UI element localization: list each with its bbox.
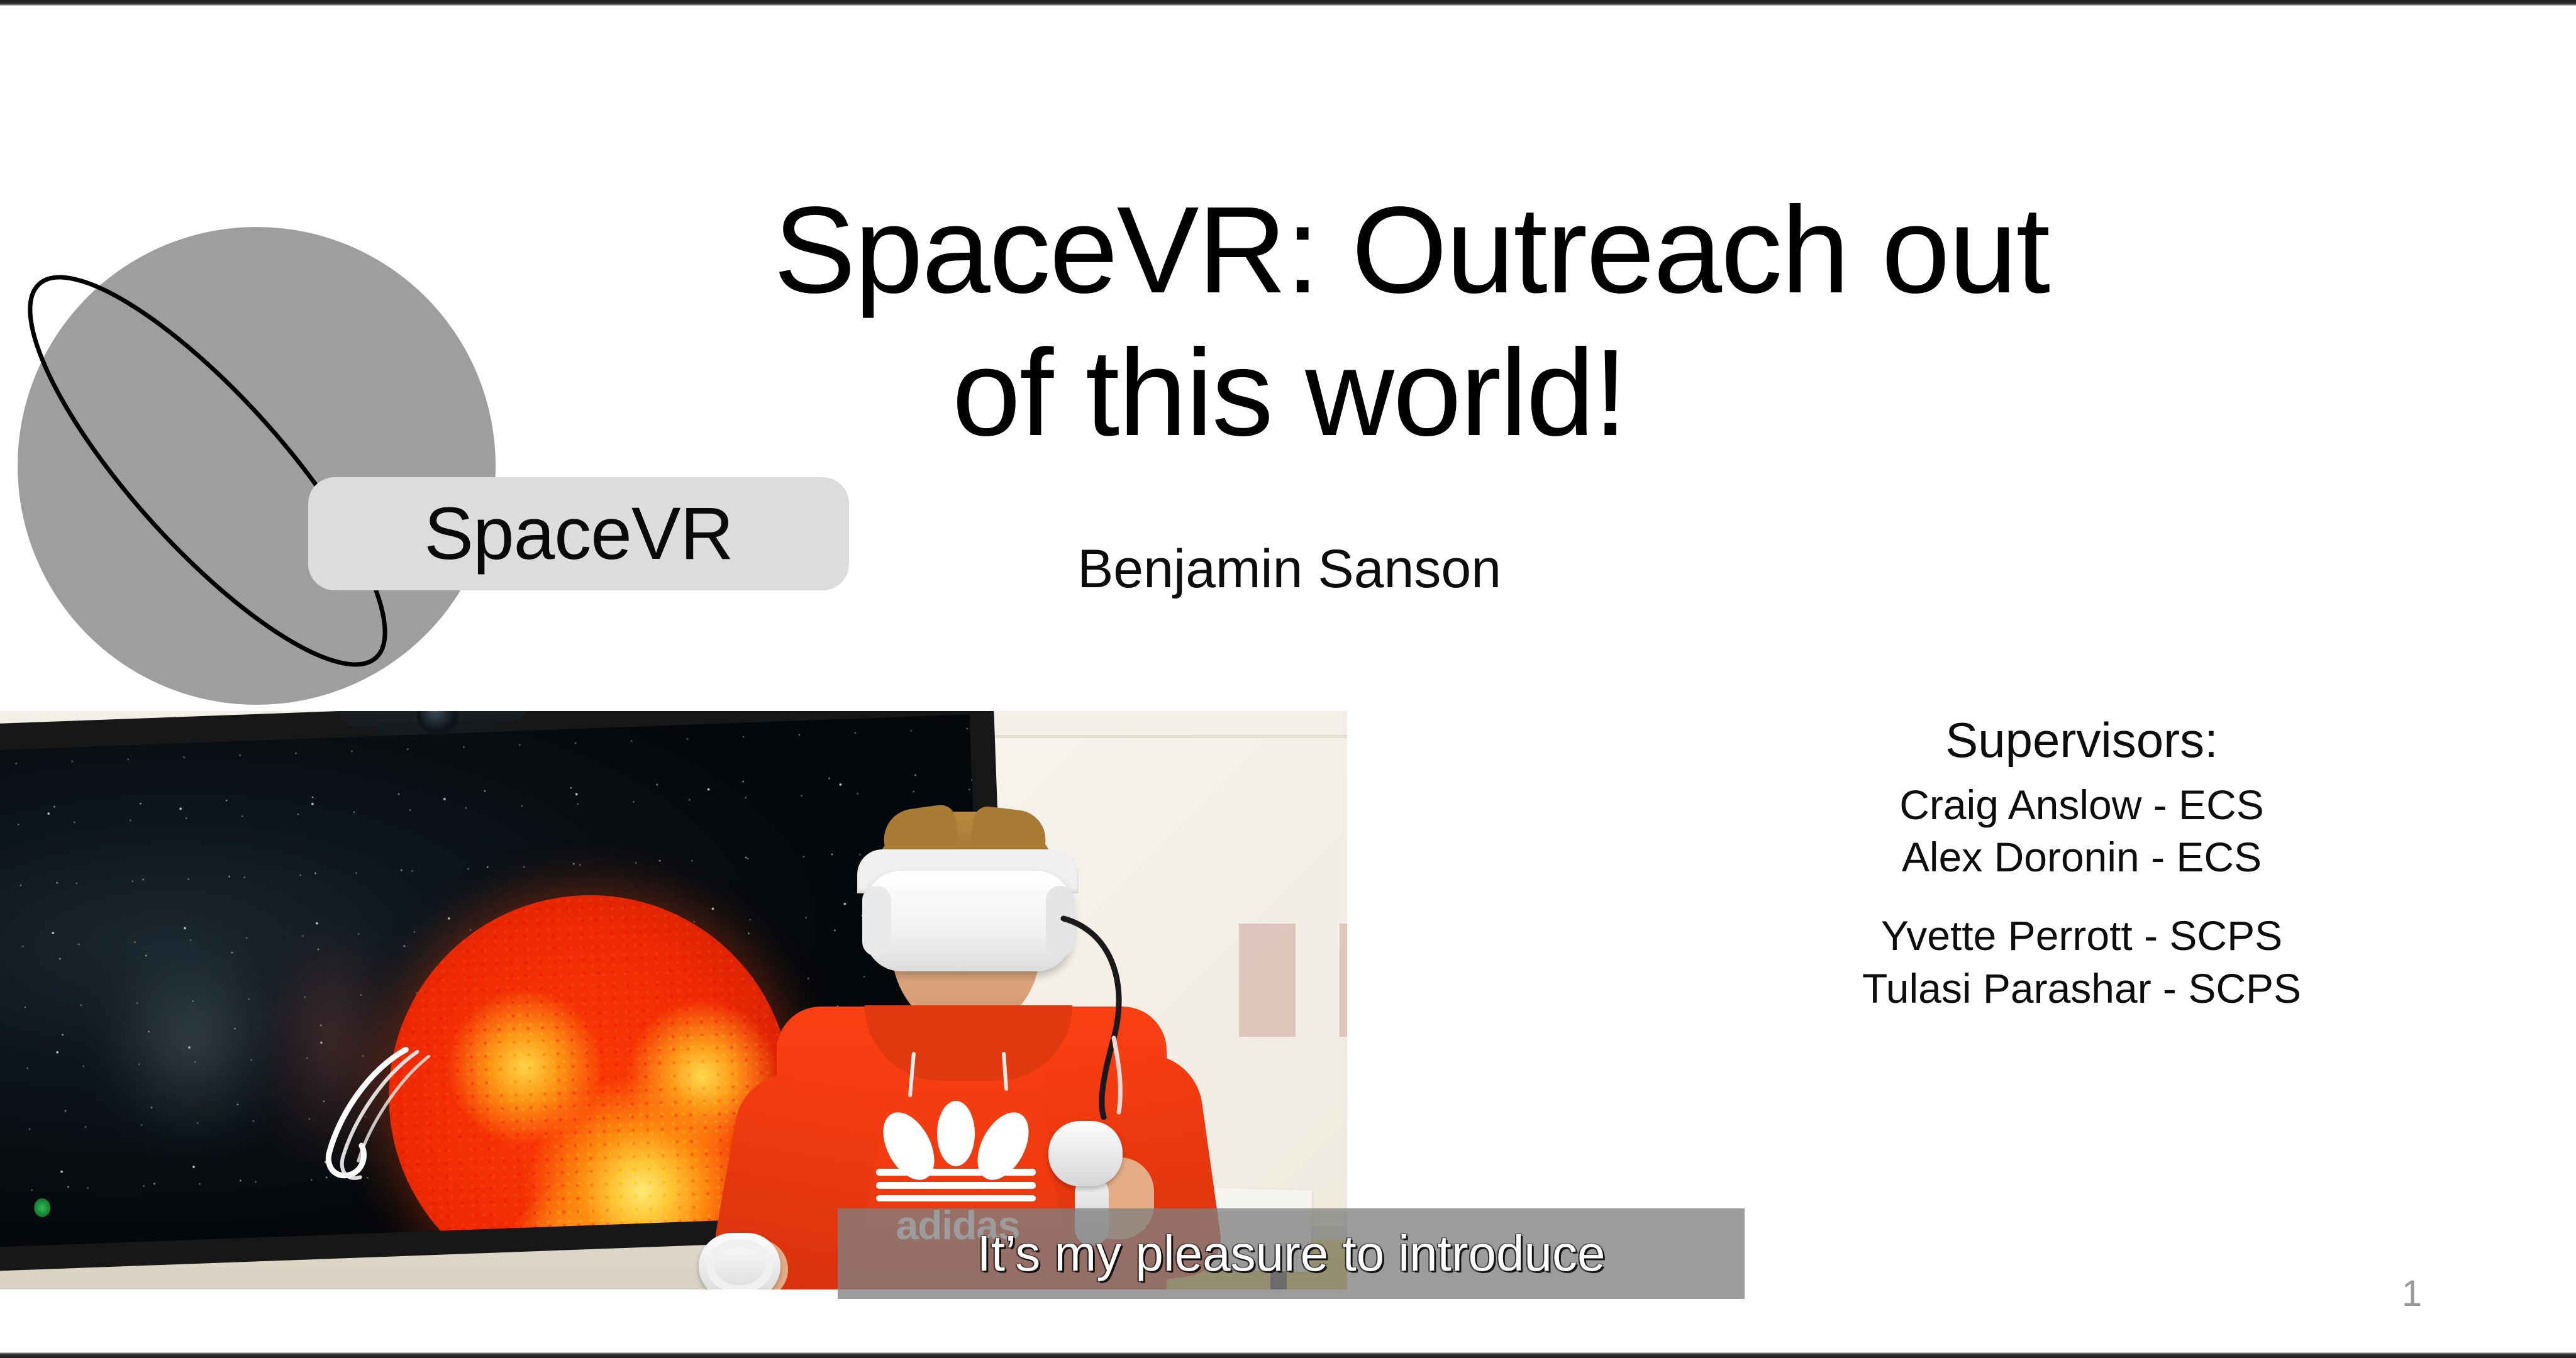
vr-headset-icon [865,871,1072,971]
vr-headset-side-left [862,886,891,956]
supervisor-item-1: Craig Anslow - ECS [1736,779,2428,831]
vr-controller-right-icon [1048,1121,1123,1186]
supervisors-block: Supervisors: Craig Anslow - ECS Alex Dor… [1736,711,2428,1015]
window-top-bar [0,0,2576,6]
spacevr-logo-chip: SpaceVR [308,477,849,590]
supervisor-item-2: Alex Doronin - ECS [1736,831,2428,883]
planet-icon [18,227,496,705]
supervisor-item-3: Yvette Perrott - SCPS [1736,910,2428,962]
title-line-1: SpaceVR: Outreach out [774,179,1805,321]
spacevr-logo-label: SpaceVR [424,497,733,571]
supervisors-heading: Supervisors: [1736,711,2428,769]
spacevr-logo: SpaceVR [6,188,874,678]
window-bottom-bar [0,1352,2576,1358]
slide-number: 1 [2377,1276,2446,1312]
adidas-trefoil-icon [865,1101,1047,1201]
vr-demo-photo: adidas [0,711,1347,1289]
title-line-2: of this world! [774,321,1805,464]
supervisor-item-4: Tulasi Parashar - SCPS [1736,963,2428,1015]
page-title: SpaceVR: Outreach out of this world! [774,179,1805,465]
screen-reflection-2 [257,924,410,1168]
video-caption: It’s my pleasure to introduce [838,1208,1745,1299]
presentation-slide: SpaceVR SpaceVR: Outreach out of this wo… [0,6,2576,1352]
caption-text: It’s my pleasure to introduce [977,1228,1605,1279]
presenter-name: Benjamin Sanson [774,537,1805,602]
vr-headset-side-right [1046,886,1075,956]
vr-controller-left-ring [706,1239,773,1289]
